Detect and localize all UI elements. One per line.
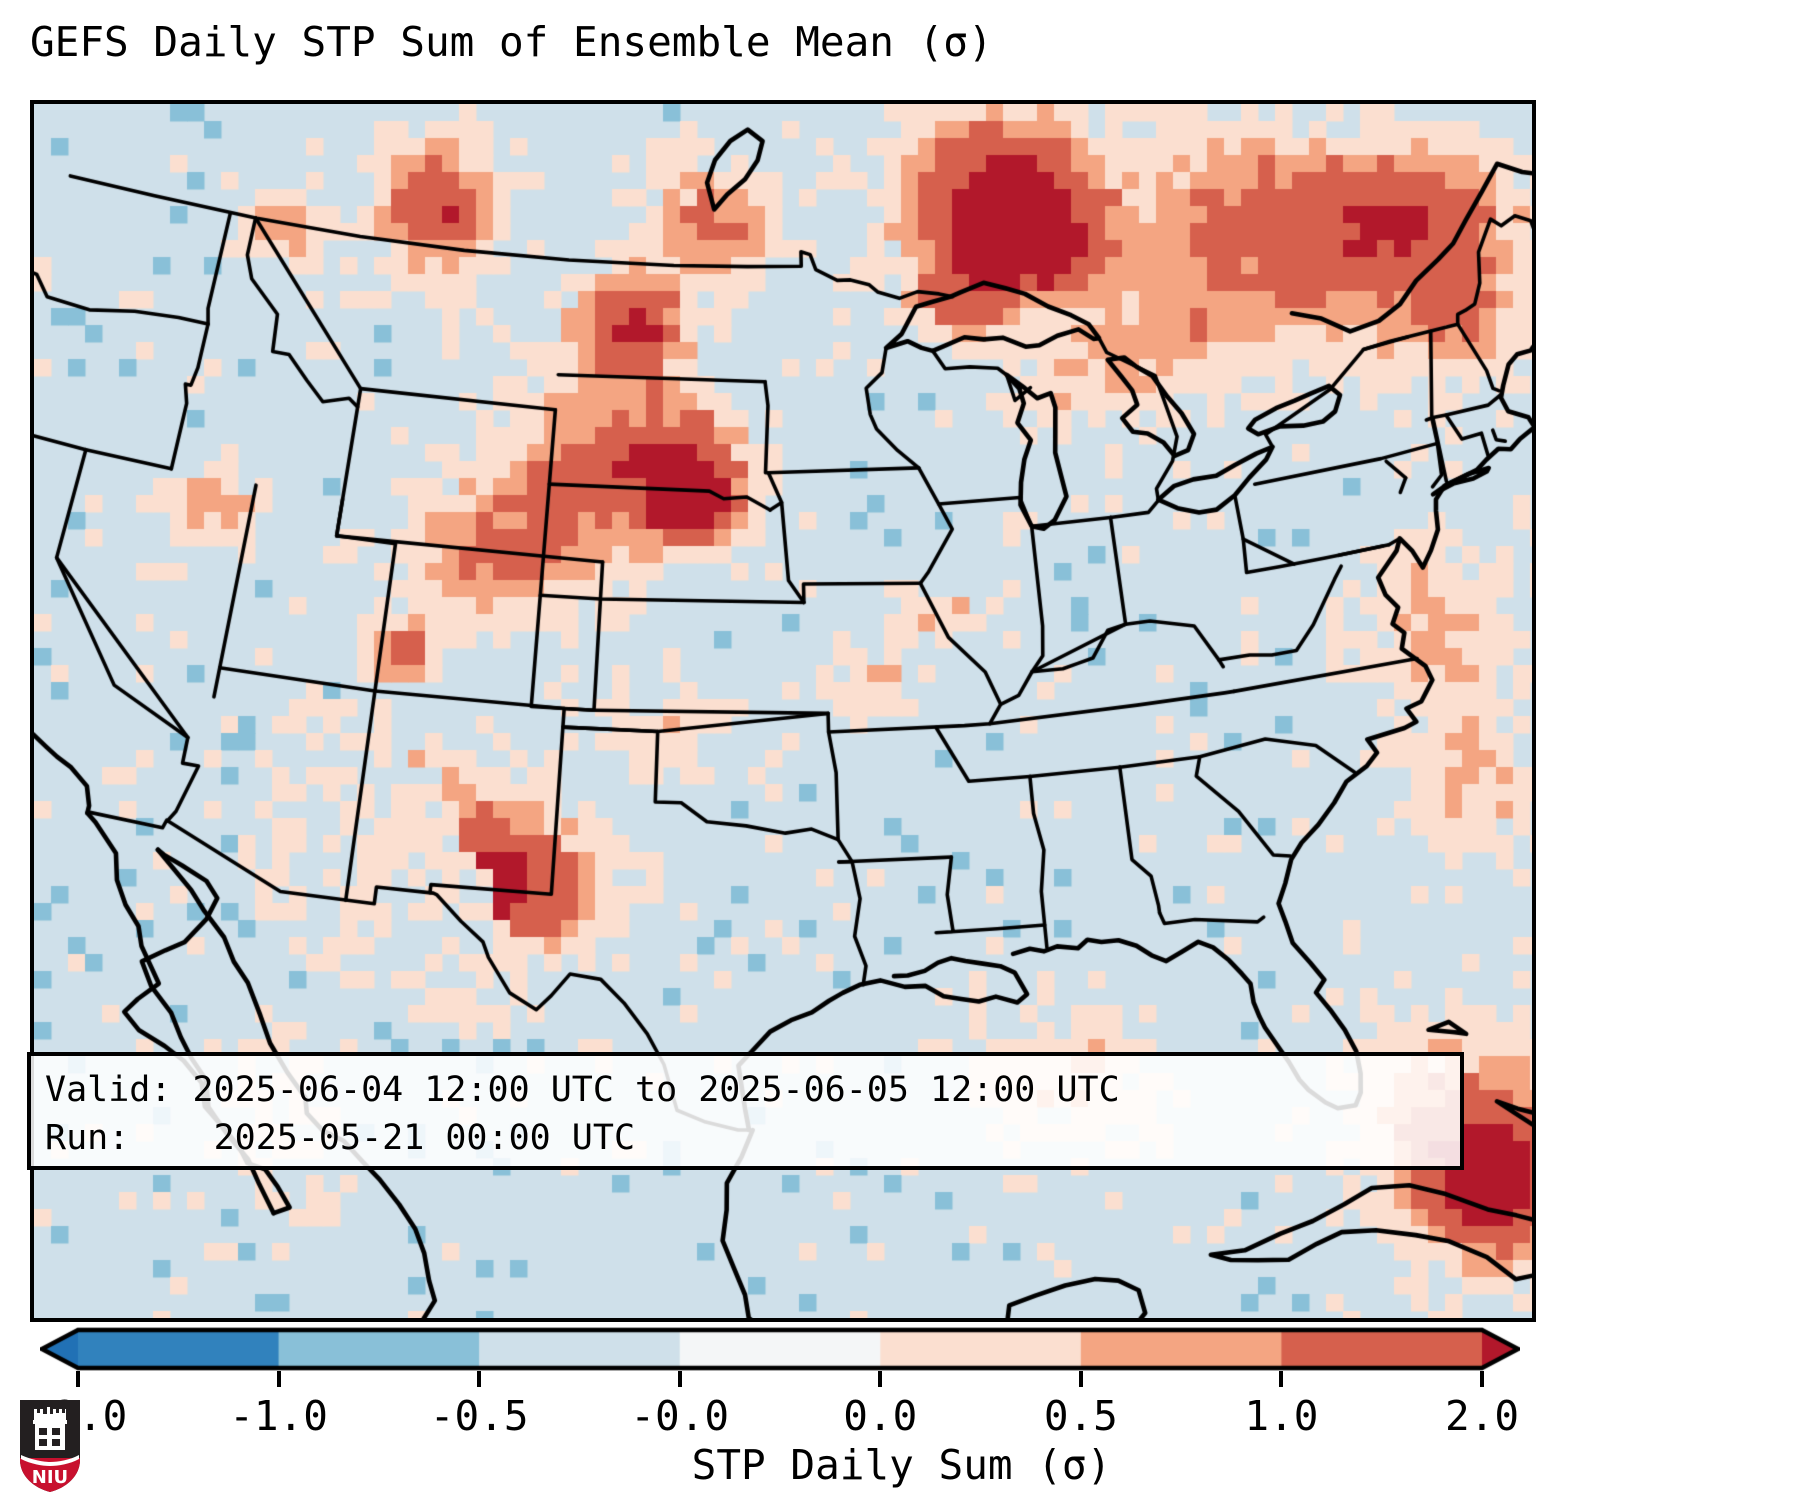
tick-mark	[678, 1371, 682, 1387]
tick-mark	[878, 1371, 882, 1387]
niu-logo-icon: NIU	[18, 1398, 82, 1494]
tick-mark	[76, 1371, 80, 1387]
tick-label: 1.0	[1244, 1389, 1318, 1443]
page-title: GEFS Daily STP Sum of Ensemble Mean (σ)	[30, 14, 993, 70]
svg-text:NIU: NIU	[32, 1467, 68, 1488]
valid-time-line: Valid: 2025-06-04 12:00 UTC to 2025-06-0…	[45, 1066, 1446, 1114]
colorbar-gradient[interactable]	[40, 1327, 1520, 1371]
tick-label: 0.0	[843, 1389, 917, 1443]
tick-label: -0.5	[430, 1389, 529, 1443]
colorbar-axis-label: STP Daily Sum (σ)	[0, 1438, 1803, 1492]
tick-label: 2.0	[1445, 1389, 1519, 1443]
tick-label: 0.5	[1044, 1389, 1118, 1443]
tick-mark	[1279, 1371, 1283, 1387]
tick-label: -1.0	[229, 1389, 328, 1443]
run-time-line: Run: 2025-05-21 00:00 UTC	[45, 1114, 1446, 1162]
figure-canvas: GEFS Daily STP Sum of Ensemble Mean (σ) …	[0, 0, 1803, 1506]
tick-mark	[1079, 1371, 1083, 1387]
tick-mark	[477, 1371, 481, 1387]
tick-label: -0.0	[630, 1389, 729, 1443]
tick-mark	[1480, 1371, 1484, 1387]
tick-mark	[277, 1371, 281, 1387]
valid-run-annotation-box: Valid: 2025-06-04 12:00 UTC to 2025-06-0…	[27, 1052, 1464, 1170]
